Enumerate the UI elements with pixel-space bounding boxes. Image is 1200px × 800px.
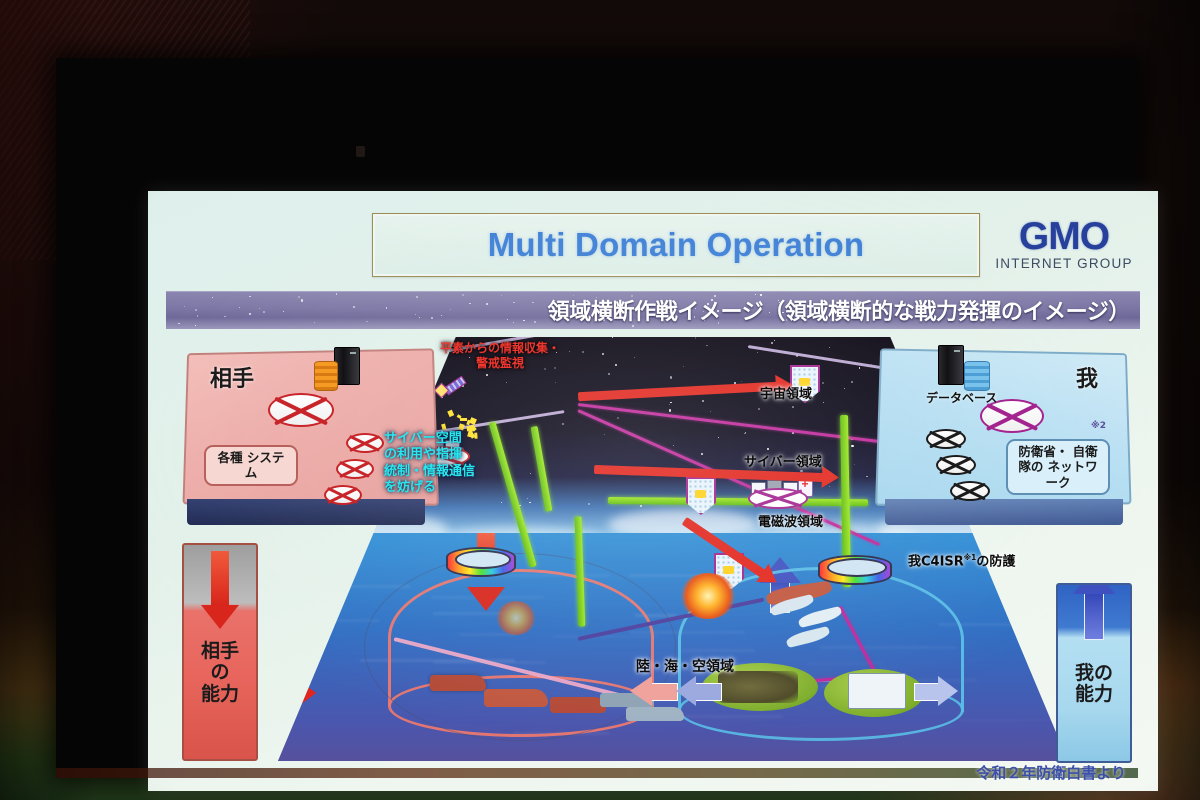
enemy-capability-meter: 相手 の 能力 (182, 543, 254, 761)
gmo-wordmark: GMO (988, 217, 1140, 256)
enemy-hub (324, 485, 362, 505)
database-icon (964, 361, 990, 391)
enemy-hub (346, 433, 384, 453)
enemy-panel-title: 相手 (210, 361, 254, 393)
enemy-capability-label: 相手 の 能力 (184, 545, 256, 715)
section-banner: 領域横断作戦イメージ（領域横断的な戦力発揮のイメージ） (166, 291, 1140, 329)
friendly-panel-base (885, 499, 1123, 525)
gmo-logo: GMO INTERNET GROUP (988, 217, 1140, 271)
spectrum-ring-icon (446, 547, 516, 577)
friendly-hub (950, 481, 990, 501)
explosion-icon (680, 573, 736, 619)
label-cyber-domain: サイバー領域 (744, 455, 822, 471)
em-beam (608, 497, 868, 506)
spectrum-ring-icon (818, 555, 892, 585)
label-c4isr-protection: 我C4ISR※1の防護 (908, 537, 1015, 571)
attack-arrow (578, 382, 778, 401)
friendly-hub (936, 455, 976, 475)
enemy-storage-icon (314, 361, 338, 391)
database-caption: データベース (926, 389, 997, 406)
presentation-slide: Multi Domain Operation GMO INTERNET GROU… (148, 191, 1158, 791)
friendly-panel-title: 我 (1076, 361, 1098, 393)
enemy-panel-base (187, 499, 425, 525)
enemy-ship (550, 697, 606, 713)
multi-domain-figure: 相手 各種 システム (166, 337, 1140, 773)
friendly-hub (926, 429, 966, 449)
label-em-domain: 電磁波領域 (758, 515, 823, 531)
mod-network-pill: 防衛省・ 自衛隊の ネットワーク (1006, 439, 1110, 495)
source-citation: 令和２年防衛白書より (148, 762, 1158, 783)
slide-title-box: Multi Domain Operation (372, 213, 980, 277)
enemy-ship (484, 689, 548, 707)
label-intel-collection: 平素からの情報収集・ 警戒監視 (440, 341, 560, 371)
enemy-core-hub (268, 393, 334, 427)
label-land-sea-air-domain: 陸・海・空領域 (636, 659, 734, 677)
label-space-domain: 宇宙領域 (760, 387, 812, 403)
enemy-systems-pill: 各種 システム (204, 445, 298, 486)
footnote-marker-1: ※1 (964, 553, 977, 562)
footnote-marker-2: ※2 (1091, 421, 1106, 431)
friendly-capability-meter: 我の 能力 (1056, 583, 1128, 763)
enemy-ship (430, 675, 486, 691)
gmo-subtitle: INTERNET GROUP (988, 257, 1140, 271)
em-beam (531, 426, 553, 512)
friendly-ship (626, 707, 684, 721)
page-title: Multi Domain Operation (488, 226, 865, 264)
banner-text: 領域横断作戦イメージ（領域横断的な戦力発揮のイメージ） (548, 294, 1140, 326)
enemy-hub (336, 459, 374, 479)
command-building (848, 673, 906, 709)
c4isr-suffix: の防護 (976, 555, 1015, 570)
label-cyber-disruption: サイバー空間 の利用や指揮 統制・情報通信 を妨げる (384, 431, 475, 496)
display-bezel: Multi Domain Operation GMO INTERNET GROU… (56, 58, 1138, 778)
camera-icon (356, 146, 365, 157)
impact-burst-icon (496, 601, 536, 635)
c4isr-text: 我C4ISR (908, 555, 964, 570)
friendly-network-panel: 我 データベース ※2 防衛省・ 自衛隊の ネットワーク (880, 349, 1128, 525)
friendly-server-icon (938, 345, 964, 385)
friendly-capability-label: 我の 能力 (1058, 585, 1130, 716)
